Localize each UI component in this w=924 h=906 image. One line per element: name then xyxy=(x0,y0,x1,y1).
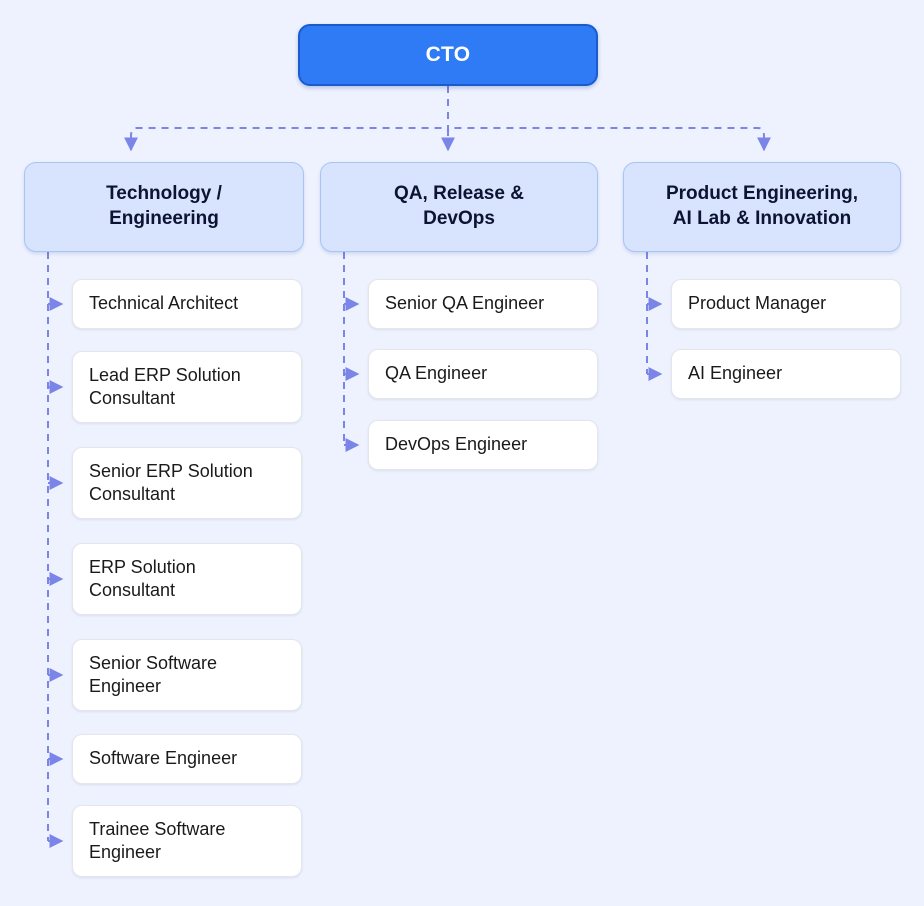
node-role-senior-software-engineer-label: Senior Software Engineer xyxy=(89,652,217,698)
node-cto-label: CTO xyxy=(426,43,471,67)
node-role-senior-erp-solution-consultant[interactable]: Senior ERP Solution Consultant xyxy=(72,447,302,519)
node-role-product-manager[interactable]: Product Manager xyxy=(671,279,901,329)
node-role-devops-engineer-label: DevOps Engineer xyxy=(385,433,527,456)
node-role-ai-engineer-label: AI Engineer xyxy=(688,362,782,385)
node-role-technical-architect[interactable]: Technical Architect xyxy=(72,279,302,329)
node-role-software-engineer[interactable]: Software Engineer xyxy=(72,734,302,784)
edge-cto-to-technology-engineering xyxy=(131,128,448,150)
org-chart-canvas: CTO Technology / Engineering Technical A… xyxy=(0,0,924,906)
node-role-trainee-software-engineer[interactable]: Trainee Software Engineer xyxy=(72,805,302,877)
node-role-senior-qa-engineer-label: Senior QA Engineer xyxy=(385,292,544,315)
node-role-ai-engineer[interactable]: AI Engineer xyxy=(671,349,901,399)
node-role-technical-architect-label: Technical Architect xyxy=(89,292,238,315)
node-role-qa-engineer-label: QA Engineer xyxy=(385,362,487,385)
node-role-software-engineer-label: Software Engineer xyxy=(89,747,237,770)
node-role-lead-erp-solution-consultant-label: Lead ERP Solution Consultant xyxy=(89,364,241,410)
node-role-senior-erp-solution-consultant-label: Senior ERP Solution Consultant xyxy=(89,460,253,506)
node-dept-qa-release-devops-label: QA, Release & DevOps xyxy=(394,182,524,231)
edge-group-qa-release-devops xyxy=(344,252,358,445)
node-role-devops-engineer[interactable]: DevOps Engineer xyxy=(368,420,598,470)
node-dept-qa-release-devops[interactable]: QA, Release & DevOps xyxy=(320,162,598,252)
node-dept-product-engineering-ai-lab-innovation-label: Product Engineering, AI Lab & Innovation xyxy=(666,182,858,231)
node-cto[interactable]: CTO xyxy=(298,24,598,86)
node-dept-technology-engineering[interactable]: Technology / Engineering xyxy=(24,162,304,252)
node-role-erp-solution-consultant-label: ERP Solution Consultant xyxy=(89,556,196,602)
node-role-qa-engineer[interactable]: QA Engineer xyxy=(368,349,598,399)
node-role-senior-qa-engineer[interactable]: Senior QA Engineer xyxy=(368,279,598,329)
edge-group-product-engineering xyxy=(647,252,661,374)
node-role-lead-erp-solution-consultant[interactable]: Lead ERP Solution Consultant xyxy=(72,351,302,423)
node-dept-product-engineering-ai-lab-innovation[interactable]: Product Engineering, AI Lab & Innovation xyxy=(623,162,901,252)
node-role-erp-solution-consultant[interactable]: ERP Solution Consultant xyxy=(72,543,302,615)
edge-cto-to-product-engineering xyxy=(448,128,764,150)
node-role-trainee-software-engineer-label: Trainee Software Engineer xyxy=(89,818,225,864)
node-role-product-manager-label: Product Manager xyxy=(688,292,826,315)
edge-group-technology-engineering xyxy=(48,252,62,841)
node-role-senior-software-engineer[interactable]: Senior Software Engineer xyxy=(72,639,302,711)
node-dept-technology-engineering-label: Technology / Engineering xyxy=(106,182,222,231)
